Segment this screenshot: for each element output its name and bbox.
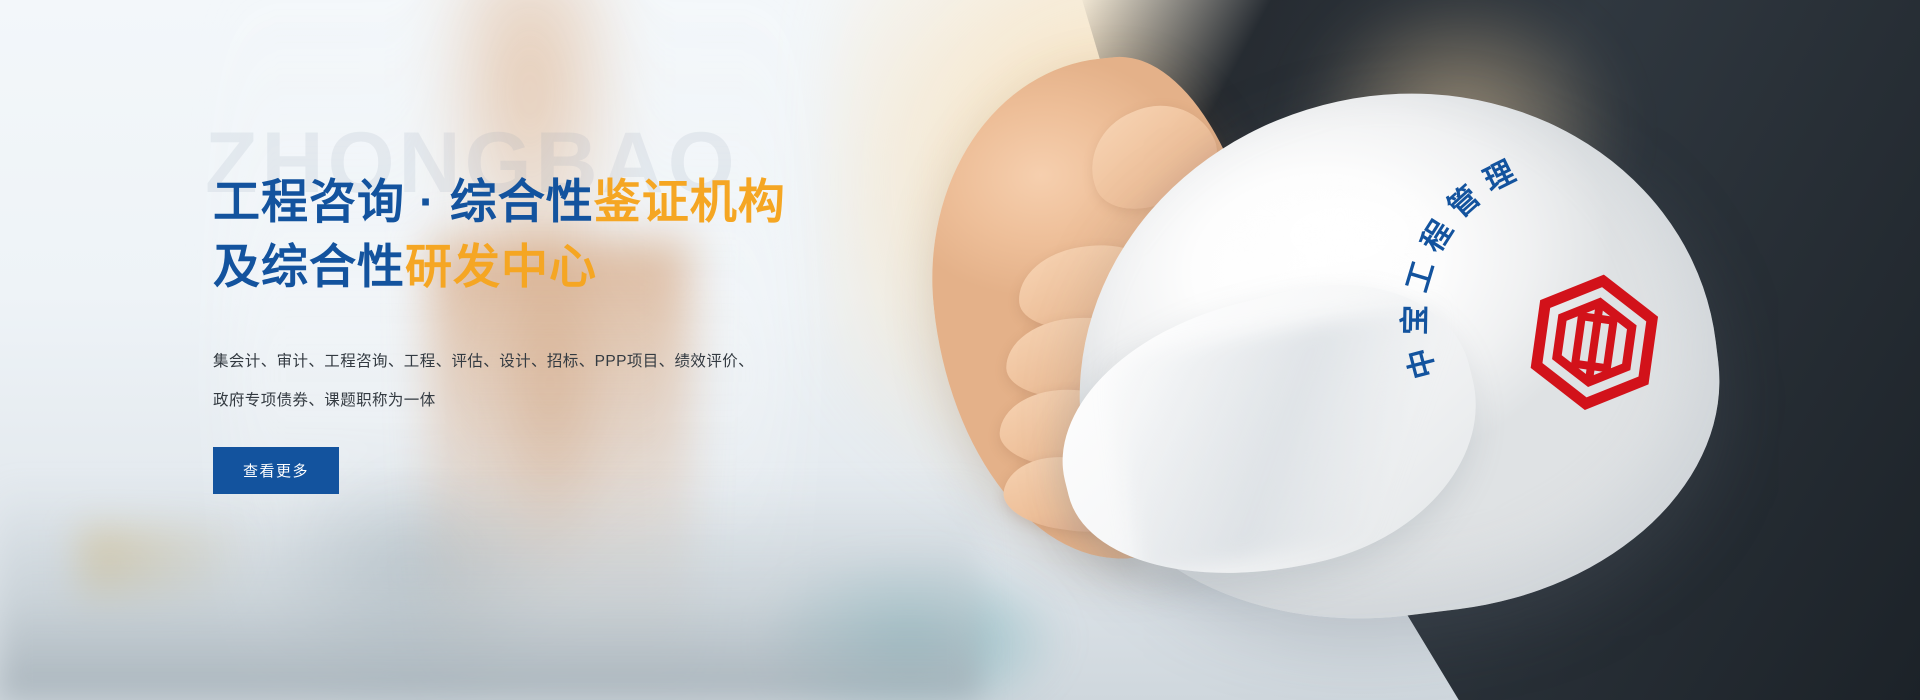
headline-line-2: 及综合性研发中心 [213, 235, 933, 300]
helmet-logo: 中宝工程管理 [1408, 131, 1751, 500]
hero-subtitle-line-1: 集会计、审计、工程咨询、工程、评估、设计、招标、PPP项目、绩效评价、 [213, 342, 933, 382]
helmet-logo-emblem [1532, 273, 1656, 411]
headline-line-1: 工程咨询 · 综合性鉴证机构 [213, 170, 933, 235]
hero-subtitle: 集会计、审计、工程咨询、工程、评估、设计、招标、PPP项目、绩效评价、 政府专项… [213, 342, 933, 421]
hero-banner: 中宝工程管理 ZHONGBAO 工程咨询 · 综合性鉴证机构 及综合性研发中心 … [0, 0, 1920, 700]
headline-line-2-accent: 研发中心 [405, 240, 597, 293]
view-more-button[interactable]: 查看更多 [213, 447, 339, 494]
hero-copy: ZHONGBAO 工程咨询 · 综合性鉴证机构 及综合性研发中心 集会计、审计、… [213, 120, 933, 494]
hero-subtitle-line-2: 政府专项债券、课题职称为一体 [213, 381, 933, 421]
page-title: 工程咨询 · 综合性鉴证机构 及综合性研发中心 [213, 170, 933, 300]
headline-line-1-main: 工程咨询 · 综合性 [213, 175, 594, 228]
headline-line-1-accent: 鉴证机构 [594, 175, 786, 228]
headline-line-2-main: 及综合性 [213, 240, 405, 293]
